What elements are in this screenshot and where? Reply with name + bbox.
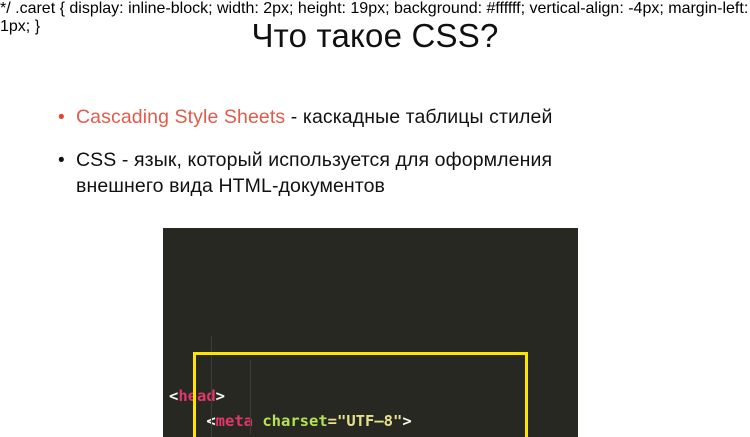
bullet-accent-text: Cascading Style Sheets [76, 106, 285, 128]
bullet-marker-icon: • [58, 104, 76, 131]
bullet-line-2: внешнего вида HTML-документов [76, 175, 385, 197]
bullet-line-1: CSS - язык, который используется для офо… [76, 149, 552, 171]
code-token-punct [253, 412, 262, 430]
code-editor-screenshot: <head> <meta charset="UTF–8"> <title>Янд… [163, 228, 578, 437]
bullet-rest-text: - каскадные таблицы стилей [285, 106, 552, 128]
bullet-marker-icon: • [58, 147, 76, 174]
indent-guide-icon [250, 360, 251, 434]
line-head-open: <head> [169, 384, 578, 409]
code-token-punct: > [402, 412, 411, 430]
list-item: • CSS - язык, который используется для о… [58, 147, 698, 199]
code-token-string: ="UTF–8" [328, 412, 403, 430]
code-token-punct: < [169, 412, 216, 430]
code-lines: <head> <meta charset="UTF–8"> <title>Янд… [163, 278, 578, 437]
code-token-punct: > [216, 387, 225, 405]
bullet-text: Cascading Style Sheets - каскадные табли… [76, 104, 552, 130]
code-token-attr: charset [262, 412, 327, 430]
code-token-punct: < [169, 387, 178, 405]
indent-guide-icon [211, 336, 212, 437]
page-title: Что такое CSS? [0, 16, 750, 56]
bullet-text: CSS - язык, который используется для офо… [76, 147, 552, 199]
code-token-tag: meta [216, 412, 253, 430]
bullet-list: • Cascading Style Sheets - каскадные таб… [58, 104, 698, 215]
list-item: • Cascading Style Sheets - каскадные таб… [58, 104, 698, 131]
line-meta: <meta charset="UTF–8"> [169, 409, 578, 434]
